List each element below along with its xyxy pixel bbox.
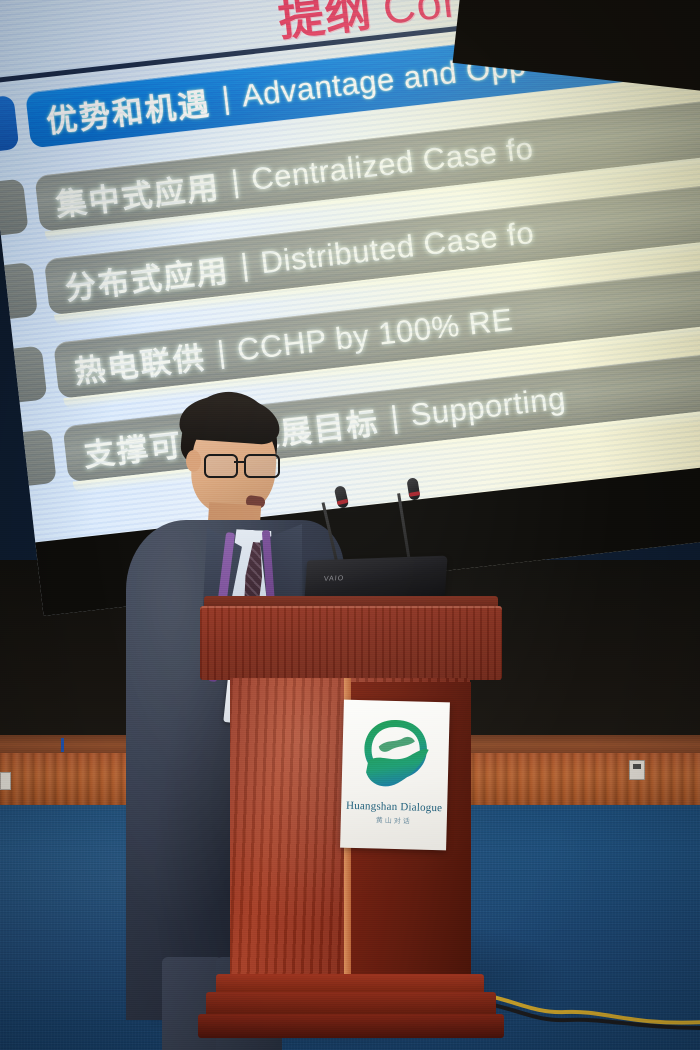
speaker-ear bbox=[186, 450, 201, 472]
glasses-left-lens bbox=[204, 454, 238, 478]
podium-logo-name: Huangshan Dialogue bbox=[341, 800, 447, 815]
presentation-photo-scene: 提纲Content 优势和机遇 | Advantage and Opp 集中式应… bbox=[0, 0, 700, 1050]
podium-head-block bbox=[200, 606, 502, 680]
glasses-right-lens bbox=[244, 454, 280, 478]
speaker-glasses bbox=[204, 454, 280, 476]
laptop-brand-mark: VAIO bbox=[324, 575, 345, 583]
wall-outlet-icon bbox=[629, 760, 645, 780]
speaker-hair-front bbox=[179, 393, 282, 446]
podium-base-tier-3 bbox=[198, 1014, 504, 1038]
laptop-icon[interactable]: VAIO bbox=[304, 556, 447, 601]
podium-logo-name-cn: 黄山对话 bbox=[341, 815, 447, 828]
wall-outlet-left-icon bbox=[0, 772, 11, 790]
leaf-mountain-icon bbox=[359, 716, 431, 796]
wall-marker bbox=[61, 738, 64, 752]
podium-logo-sign: Huangshan Dialogue 黄山对话 bbox=[340, 700, 450, 851]
podium: VAIO Huangshan Dialogue 黄山 bbox=[196, 596, 506, 1050]
